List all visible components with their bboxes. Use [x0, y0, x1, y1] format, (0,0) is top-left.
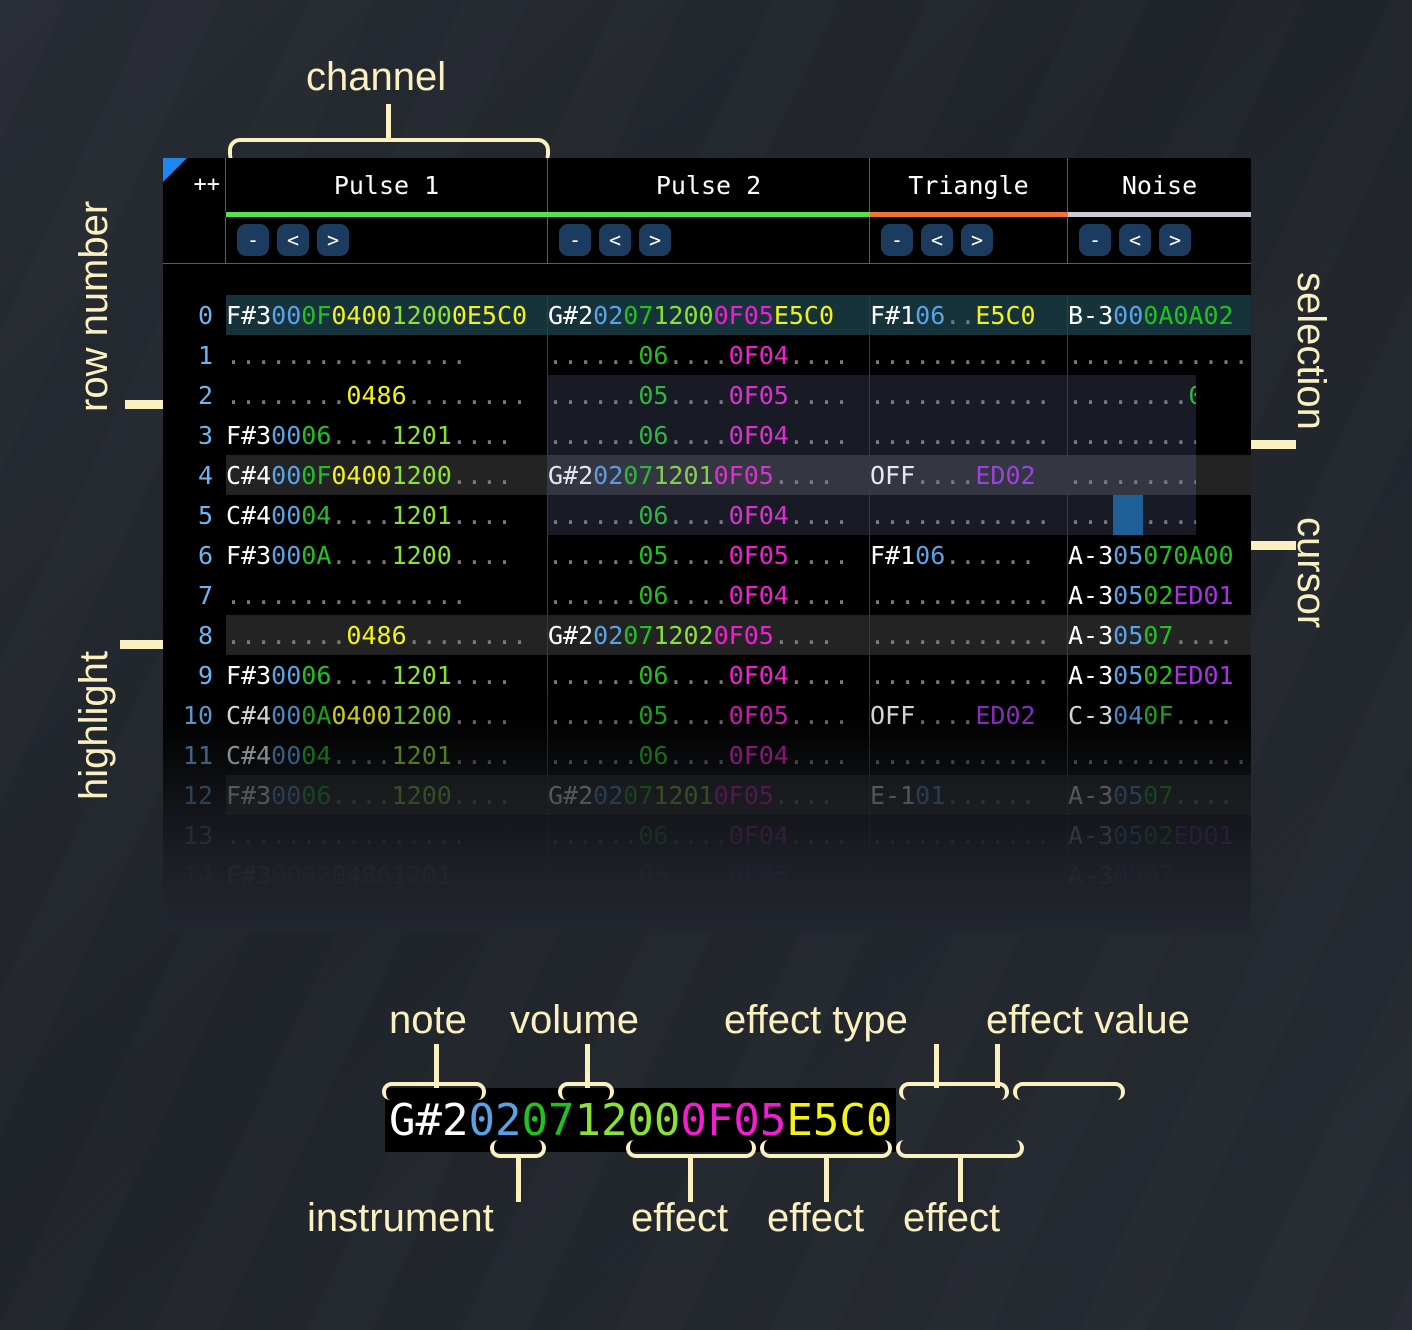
brace-volume: [558, 1082, 614, 1100]
prev-button-pulse-2[interactable]: <: [599, 224, 631, 256]
cell-segment: 05: [1113, 661, 1143, 690]
cell-segment: 0F04: [729, 501, 789, 530]
cell-segment: F#3: [226, 541, 271, 570]
channel-cell[interactable]: ......06....0F04....: [548, 895, 870, 933]
pattern-row[interactable]: 7......................06....0F04.......…: [163, 575, 1251, 615]
channel-cell[interactable]: ........0A01: [1068, 375, 1251, 415]
cell-segment: ....: [452, 741, 512, 770]
cell-segment: F#3: [226, 861, 271, 890]
pattern-row[interactable]: 11C#40004....1201..........06....0F04...…: [163, 735, 1251, 775]
channel-header-pulse-2[interactable]: Pulse 2: [548, 158, 870, 212]
next-button-triangle[interactable]: >: [961, 224, 993, 256]
cell-segment: 00: [271, 781, 301, 810]
channel-cell[interactable]: A-30507....: [1068, 775, 1251, 815]
channel-header-pulse-1[interactable]: Pulse 1: [226, 158, 548, 212]
channel-cell[interactable]: ............: [870, 815, 1068, 855]
legend-segment-fx3: E5C0: [786, 1095, 892, 1146]
pattern-row[interactable]: 10C#4000A04001200..........05....0F05...…: [163, 695, 1251, 735]
channel-cell[interactable]: OFF........: [870, 895, 1068, 933]
cell-segment: ................: [226, 341, 467, 370]
cell-segment: ....: [1173, 701, 1233, 730]
cell-segment: 06: [301, 421, 331, 450]
cell-segment: 00: [271, 661, 301, 690]
channel-cell[interactable]: A-30507....: [1068, 855, 1251, 895]
channel-cell[interactable]: ............: [1068, 495, 1251, 535]
row-number-cell: 6: [163, 535, 226, 575]
channel-cell[interactable]: ............: [1068, 335, 1251, 375]
legend-segment-fx1: 1200: [574, 1095, 680, 1146]
channel-cell[interactable]: F#30006....1200....: [226, 775, 548, 815]
cell-segment: F#3: [226, 661, 271, 690]
cell-segment: C#4: [226, 501, 271, 530]
channel-cell[interactable]: ............: [870, 575, 1068, 615]
cell-segment: B-3: [1068, 301, 1113, 330]
grid-top-pad: [163, 265, 1251, 295]
cell-segment: 0F05: [729, 381, 789, 410]
channel-cell[interactable]: A-30502ED01: [1068, 575, 1251, 615]
pattern-row[interactable]: 13......................06....0F04......…: [163, 815, 1251, 855]
channel-cell[interactable]: C#4000F04001200....: [226, 455, 548, 495]
cell-segment: 05: [638, 701, 668, 730]
next-button-noise[interactable]: >: [1159, 224, 1191, 256]
cell-segment: ........: [407, 381, 527, 410]
tick-channel: [386, 104, 391, 140]
cell-segment: 02: [1143, 581, 1173, 610]
cell-segment: 06: [301, 661, 331, 690]
cell-segment: 0F05: [729, 541, 789, 570]
channel-cell[interactable]: ........0486........: [226, 375, 548, 415]
cell-segment: 07: [1143, 781, 1173, 810]
channel-cell[interactable]: A-305070A00: [1068, 535, 1251, 575]
cell-segment: F#3: [226, 781, 271, 810]
brace-effect-c: [896, 1140, 1024, 1158]
channel-header-row: ++ Pulse 1 Pulse 2 Triangle Noise: [163, 158, 1251, 212]
cell-segment: 04: [1113, 701, 1143, 730]
channel-cell[interactable]: ......06....0F04....: [548, 575, 870, 615]
cell-segment: 00: [271, 301, 301, 330]
channel-cell[interactable]: B-3000A0A02: [1068, 295, 1251, 335]
row-number-cell: 12: [163, 775, 226, 815]
channel-cell[interactable]: ............: [870, 655, 1068, 695]
row-cells: ......................06....0F04........…: [226, 815, 1251, 855]
cell-segment: C#4: [226, 701, 271, 730]
cell-segment: 0F: [301, 301, 331, 330]
pattern-row[interactable]: 1......................06....0F04.......…: [163, 335, 1251, 375]
cell-segment: ....: [789, 421, 849, 450]
mute-button-noise[interactable]: -: [1079, 224, 1111, 256]
cell-segment: F#3: [226, 301, 271, 330]
cell-segment: ......: [548, 661, 638, 690]
cell-segment: 02: [593, 461, 623, 490]
cell-segment: 06: [638, 901, 668, 930]
cell-segment: ....: [915, 461, 975, 490]
pattern-row[interactable]: 0F#3000F040012000E5C0G#2020712000F05E5C0…: [163, 295, 1251, 335]
mute-button-triangle[interactable]: -: [881, 224, 913, 256]
row-cells: C#4000F04001200....G#2020712010F05....OF…: [226, 455, 1251, 495]
channel-cell[interactable]: ......06....0F04....: [548, 735, 870, 775]
channel-cell[interactable]: A-30507....: [1068, 615, 1251, 655]
channel-cell[interactable]: ......05....0F05....: [548, 855, 870, 895]
cell-segment: 1200: [392, 461, 452, 490]
cell-segment: 0F04: [729, 821, 789, 850]
cell-segment: ....: [1173, 621, 1233, 650]
cell-segment: 1200: [392, 701, 452, 730]
channel-cell[interactable]: ............: [870, 335, 1068, 375]
cell-segment: 1200: [392, 301, 452, 330]
cell-segment: ....: [668, 821, 728, 850]
cell-segment: ............: [870, 341, 1051, 370]
cell-segment: 0F04: [729, 341, 789, 370]
channel-cell[interactable]: ......05....0F05....: [548, 695, 870, 735]
channel-cell[interactable]: OFF....ED02: [870, 455, 1068, 495]
cell-segment: 0F04: [729, 741, 789, 770]
cell-segment: ................: [226, 581, 467, 610]
annotation-effect-type: effect type: [724, 998, 908, 1043]
cell-segment: ......: [945, 781, 1035, 810]
cell-segment: 06: [915, 541, 945, 570]
cell-segment: 0F04: [729, 581, 789, 610]
cell-segment: ......: [548, 541, 638, 570]
channel-controls-triangle: - < >: [870, 217, 1068, 263]
channel-cell[interactable]: ......06....0F04....: [548, 415, 870, 455]
cell-segment: ED02: [975, 701, 1035, 730]
channel-cell[interactable]: ........0486........: [226, 615, 548, 655]
cell-segment: 00: [271, 901, 301, 930]
edit-cursor[interactable]: [1113, 495, 1143, 535]
pattern-row[interactable]: 3F#30006....1201..........06....0F04....…: [163, 415, 1251, 455]
cell-segment: 1201: [392, 741, 452, 770]
cell-segment: 0F: [1143, 701, 1173, 730]
cell-segment: ....: [774, 461, 834, 490]
annotation-effect-a: effect: [631, 1196, 728, 1241]
channel-cell[interactable]: ............: [1068, 415, 1251, 455]
cell-segment: ....: [452, 781, 512, 810]
cell-segment: 07: [623, 781, 653, 810]
cell-segment: 05: [1113, 581, 1143, 610]
cell-segment: OFF: [870, 701, 915, 730]
cell-segment: 04: [301, 741, 331, 770]
cell-segment: ..: [1158, 381, 1188, 410]
cell-segment: 06: [638, 821, 668, 850]
cell-segment: ......: [548, 381, 638, 410]
cell-segment: 00: [271, 701, 301, 730]
cell-segment: A-3: [1068, 901, 1113, 930]
row-cells: F#30006....1201..........06....0F04.....…: [226, 655, 1251, 695]
prev-button-triangle[interactable]: <: [921, 224, 953, 256]
pattern-row[interactable]: 2........0486..............05....0F05...…: [163, 375, 1251, 415]
pattern-grid[interactable]: 0F#3000F040012000E5C0G#2020712000F05E5C0…: [163, 265, 1251, 933]
channel-cell[interactable]: E-101......: [870, 775, 1068, 815]
channel-cell[interactable]: F#106..E5C0: [870, 295, 1068, 335]
channel-cell[interactable]: F#30006....1201....: [226, 655, 548, 695]
cell-segment: ....: [1173, 861, 1233, 890]
cell-segment: 05: [1113, 621, 1143, 650]
channel-cell[interactable]: A-30502ED01: [1068, 815, 1251, 855]
channel-cell[interactable]: C#40004....1201....: [226, 495, 548, 535]
channel-cell[interactable]: ......06....0F04....: [548, 655, 870, 695]
cell-segment: F#3: [226, 421, 271, 450]
cell-segment: ........: [226, 621, 346, 650]
channel-controls-noise: - < >: [1068, 217, 1251, 263]
cell-segment: 1202: [653, 621, 713, 650]
pattern-row[interactable]: 12F#30006....1200....G#2020712010F05....…: [163, 775, 1251, 815]
cell-segment: ED01: [1173, 581, 1233, 610]
cell-segment: ......: [945, 541, 1035, 570]
cell-segment: ED01: [1173, 661, 1233, 690]
cell-segment: ....: [452, 421, 512, 450]
cell-segment: 06: [638, 501, 668, 530]
mute-button-pulse-2[interactable]: -: [559, 224, 591, 256]
cell-segment: ....: [1173, 781, 1233, 810]
cell-segment: ......: [548, 861, 638, 890]
cell-segment: 07: [1143, 861, 1173, 890]
cell-segment: ............: [1068, 341, 1249, 370]
row-number-cell: 13: [163, 815, 226, 855]
channel-cell[interactable]: ................: [226, 335, 548, 375]
annotation-effect-b: effect: [767, 1196, 864, 1241]
cell-segment: 0F04: [729, 661, 789, 690]
next-button-pulse-2[interactable]: >: [639, 224, 671, 256]
cell-segment: ....: [789, 581, 849, 610]
cell-segment: 0400: [331, 461, 391, 490]
cell-segment: 0F05: [714, 301, 774, 330]
cell-segment: C-3: [1068, 701, 1113, 730]
cell-segment: 1201: [653, 781, 713, 810]
cell-segment: ....: [331, 541, 391, 570]
prev-button-noise[interactable]: <: [1119, 224, 1151, 256]
cell-segment: OFF: [870, 461, 915, 490]
channel-cell[interactable]: ......06....0F04....: [548, 335, 870, 375]
row-number-cell: 0: [163, 295, 226, 335]
cell-segment: 02: [593, 301, 623, 330]
cell-segment: ....: [668, 701, 728, 730]
channel-header-noise[interactable]: Noise: [1068, 158, 1251, 212]
row-number-cell: 15: [163, 895, 226, 933]
row-cells: F#3000F040012000E5C0G#2020712000F05E5C0F…: [226, 295, 1251, 335]
brace-instrument: [490, 1140, 546, 1158]
pattern-row[interactable]: 8........0486........G#2020712020F05....…: [163, 615, 1251, 655]
brace-effect-a: [626, 1140, 756, 1158]
cell-segment: 0486: [346, 621, 406, 650]
channel-cell[interactable]: G#2020712000F05E5C0: [548, 295, 870, 335]
cell-segment: ............: [870, 381, 1051, 410]
channel-cell[interactable]: ............: [870, 375, 1068, 415]
channel-cell[interactable]: ................: [226, 815, 548, 855]
cell-segment: G#2: [548, 781, 593, 810]
cell-segment: 00: [271, 741, 301, 770]
cell-segment: ............: [870, 621, 1051, 650]
pattern-row[interactable]: 9F#30006....1201..........06....0F04....…: [163, 655, 1251, 695]
channel-cell[interactable]: ......05....0F05....: [548, 535, 870, 575]
pattern-row[interactable]: 4C#4000F04001200....G#2020712010F05....O…: [163, 455, 1251, 495]
cell-segment: 1201: [392, 861, 452, 890]
cell-segment: ............: [870, 581, 1051, 610]
row-cells: C-4000CED031200..........06....0F04....O…: [226, 895, 1251, 933]
channel-cell[interactable]: ............: [870, 735, 1068, 775]
cell-segment: 1200: [392, 541, 452, 570]
channel-cell[interactable]: C-4000CED031200....: [226, 895, 548, 933]
channel-cell[interactable]: ......06....0F04....: [548, 495, 870, 535]
cell-segment: ....: [331, 661, 391, 690]
row-cells: F#3000204861201..........05....0F05.....…: [226, 855, 1251, 895]
cell-segment: ....: [789, 661, 849, 690]
channel-cell[interactable]: A-30502ED01: [1068, 655, 1251, 695]
cell-segment: ....: [452, 461, 512, 490]
cell-segment: E-1: [870, 781, 915, 810]
cell-segment: ....: [789, 821, 849, 850]
channel-header-triangle[interactable]: Triangle: [870, 158, 1068, 212]
cell-segment: G#2: [548, 461, 593, 490]
cell-segment: ....: [789, 501, 849, 530]
channel-cell[interactable]: C#40004....1201....: [226, 735, 548, 775]
cell-segment: ....: [668, 341, 728, 370]
cell-segment: 06: [638, 661, 668, 690]
row-number-cell: 1: [163, 335, 226, 375]
cell-segment: 00: [271, 501, 301, 530]
cell-segment: 0F05: [714, 461, 774, 490]
cell-segment: 05: [1113, 541, 1143, 570]
row-number-cell: 3: [163, 415, 226, 455]
channel-cell[interactable]: ............: [1068, 455, 1251, 495]
channel-controls-pulse-1: - < >: [226, 217, 548, 263]
annotation-selection: selection: [1288, 272, 1333, 430]
cell-segment: ............: [1068, 501, 1249, 530]
annotation-effect-c: effect: [903, 1196, 1000, 1241]
cell-segment: G#2: [548, 621, 593, 650]
cell-segment: 00: [271, 861, 301, 890]
row-cells: F#3000A....1200..........05....0F05....F…: [226, 535, 1251, 575]
cell-segment: ............: [870, 741, 1051, 770]
channel-cell[interactable]: ................: [226, 575, 548, 615]
cell-segment: 02: [301, 861, 331, 890]
cell-segment: 1200: [392, 901, 452, 930]
channel-cell[interactable]: ............: [870, 855, 1068, 895]
cell-segment: C#4: [226, 461, 271, 490]
cell-segment: ......: [548, 341, 638, 370]
cell-segment: 1200: [653, 301, 713, 330]
cell-segment: ....: [452, 861, 512, 890]
channel-cell[interactable]: A-30502ED01: [1068, 895, 1251, 933]
cell-segment: 07: [623, 461, 653, 490]
cell-segment: ED02: [975, 461, 1035, 490]
channel-cell[interactable]: OFF....ED02: [870, 695, 1068, 735]
tracker-panel[interactable]: ++ Pulse 1 Pulse 2 Triangle Noise - < > …: [163, 158, 1251, 933]
row-number-cell: 2: [163, 375, 226, 415]
cell-segment: E5C0: [774, 301, 834, 330]
cell-segment: 00: [271, 421, 301, 450]
cell-segment: 06: [915, 301, 945, 330]
cell-segment: ......: [548, 581, 638, 610]
row-number-cell: 4: [163, 455, 226, 495]
cell-segment: 02: [1143, 901, 1173, 930]
cell-segment: C-4: [226, 901, 271, 930]
channel-cell[interactable]: ............: [1068, 735, 1251, 775]
channel-cell[interactable]: C#4000A04001200....: [226, 695, 548, 735]
cell-segment: ........: [915, 901, 1035, 930]
channel-cell[interactable]: ............: [870, 615, 1068, 655]
cell-segment: ........: [226, 381, 346, 410]
pattern-row[interactable]: 5C#40004....1201..........06....0F04....…: [163, 495, 1251, 535]
row-cells: C#40004....1201..........06....0F04.....…: [226, 495, 1251, 535]
cell-segment: F#1: [870, 541, 915, 570]
corner-marker-icon: [163, 158, 187, 182]
cell-segment: ............: [1068, 741, 1249, 770]
channel-cell[interactable]: F#3000204861201....: [226, 855, 548, 895]
cell-segment: ......: [548, 701, 638, 730]
next-button-pulse-1[interactable]: >: [317, 224, 349, 256]
pattern-row[interactable]: 14F#3000204861201..........05....0F05...…: [163, 855, 1251, 895]
channel-cell[interactable]: F#30006....1201....: [226, 415, 548, 455]
cell-segment: 0400: [331, 701, 391, 730]
screenshot-root: channel row number highlight selection c…: [0, 0, 1412, 1330]
cell-segment: 02: [593, 621, 623, 650]
row-number-cell: 7: [163, 575, 226, 615]
channel-cell[interactable]: G#2020712010F05....: [548, 775, 870, 815]
controls-gutter: [163, 217, 226, 263]
legend-segment-fx2: 0F05: [680, 1095, 786, 1146]
cell-segment: 0F05: [729, 701, 789, 730]
channel-cell[interactable]: F#3000A....1200....: [226, 535, 548, 575]
cell-segment: ......: [548, 901, 638, 930]
channel-cell[interactable]: G#2020712020F05....: [548, 615, 870, 655]
brace-effect-b: [760, 1140, 892, 1158]
pattern-row[interactable]: 6F#3000A....1200..........05....0F05....…: [163, 535, 1251, 575]
channel-controls-pulse-2: - < >: [548, 217, 870, 263]
cell-segment: 00: [1113, 301, 1143, 330]
cell-segment: OFF: [870, 901, 915, 930]
channel-cell[interactable]: ......06....0F04....: [548, 815, 870, 855]
cell-segment: 05: [1113, 861, 1143, 890]
channel-controls-row: - < > - < > - < > - < >: [163, 217, 1251, 264]
cell-segment: ............: [1068, 421, 1249, 450]
mute-button-pulse-1[interactable]: -: [237, 224, 269, 256]
cell-segment: ....: [668, 381, 728, 410]
cell-segment: ............: [1068, 461, 1249, 490]
cell-segment: 06: [301, 781, 331, 810]
cell-segment: ....: [452, 541, 512, 570]
cell-segment: 06: [638, 581, 668, 610]
annotation-effect-value: effect value: [986, 998, 1190, 1043]
cell-segment: ............: [870, 661, 1051, 690]
cell-segment: 07: [623, 301, 653, 330]
channel-cell[interactable]: ............: [870, 495, 1068, 535]
channel-cell[interactable]: F#106......: [870, 535, 1068, 575]
cell-segment: 0486: [331, 861, 391, 890]
brace-effect-value: [1013, 1082, 1125, 1100]
cell-segment: 0F04: [729, 421, 789, 450]
cell-segment: 0F05: [714, 781, 774, 810]
cell-segment: ....: [789, 701, 849, 730]
cell-segment: ......: [548, 741, 638, 770]
cell-segment: 0F: [301, 461, 331, 490]
cell-segment: 05: [1113, 781, 1143, 810]
cell-segment: A-3: [1068, 861, 1113, 890]
row-number-cell: 5: [163, 495, 226, 535]
legend-segment-vol: 07: [521, 1095, 574, 1146]
cell-segment: ....: [668, 541, 728, 570]
cell-segment: ............: [870, 861, 1051, 890]
channel-cell[interactable]: ......05....0F05....: [548, 375, 870, 415]
cell-segment: ..: [945, 301, 975, 330]
prev-button-pulse-1[interactable]: <: [277, 224, 309, 256]
row-number-cell: 9: [163, 655, 226, 695]
channel-cell[interactable]: C-3040F....: [1068, 695, 1251, 735]
cell-segment: 0A: [301, 541, 331, 570]
channel-cell[interactable]: ............: [870, 415, 1068, 455]
channel-cell[interactable]: F#3000F040012000E5C0: [226, 295, 548, 335]
cell-segment: ....: [452, 901, 512, 930]
channel-cell[interactable]: G#2020712010F05....: [548, 455, 870, 495]
